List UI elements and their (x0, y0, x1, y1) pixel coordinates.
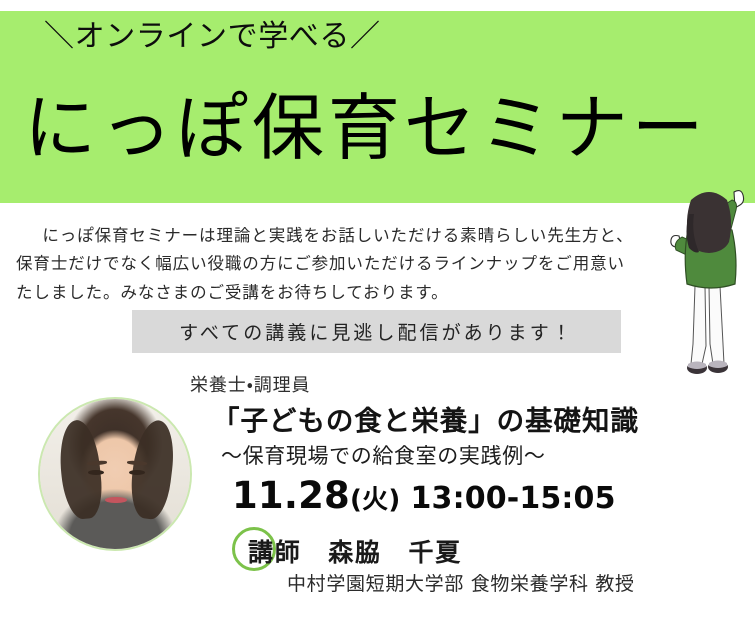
seminar-poster: ＼オンラインで学べる／ にっぽ保育セミナー にっぽ保育セミナーは理 (0, 0, 755, 640)
session-target-role: 栄養士・調理員 (190, 371, 310, 397)
lecturer-photo (38, 397, 192, 551)
session-day-of-week: (火) (350, 485, 401, 515)
archive-notice-banner: すべての講義に見逃し配信があります！ (132, 310, 621, 353)
session-title: 「子どもの食と栄養」の基礎知識 (212, 398, 639, 438)
session-date: 11.28 (232, 474, 350, 517)
intro-paragraph: にっぽ保育セミナーは理論と実践をお話しいただける素晴らしい先生方と、 保育士だけ… (16, 222, 676, 307)
tagline: ＼オンラインで学べる／ (44, 22, 381, 52)
lecturer-photo-eye-left (88, 470, 104, 475)
intro-line-1: にっぽ保育セミナーは理論と実践をお話しいただける素晴らしい先生方と、 (16, 222, 676, 250)
intro-line-2: 保育士だけでなく幅広い役職の方にご参加いただけるラインナップをご用意い (16, 250, 676, 278)
session-time: 13:00-15:05 (411, 481, 616, 516)
lecturer-affiliation: 中村学園短期大学部 食物栄養学科 教授 (287, 569, 635, 596)
session-subtitle: 〜保育現場での給食室の実践例〜 (221, 440, 545, 470)
lecturer-name: 講師 森脇 千夏 (248, 533, 462, 569)
brand-title: にっぽ保育セミナー (24, 92, 708, 164)
archive-notice-text: すべての講義に見逃し配信があります！ (179, 318, 574, 345)
intro-line-3: たしました。みなさまのご受講をお待ちしております。 (16, 279, 676, 307)
lecturer-photo-eye-right (129, 470, 145, 475)
session-datetime: 11.28(火)13:00-15:05 (232, 474, 616, 517)
